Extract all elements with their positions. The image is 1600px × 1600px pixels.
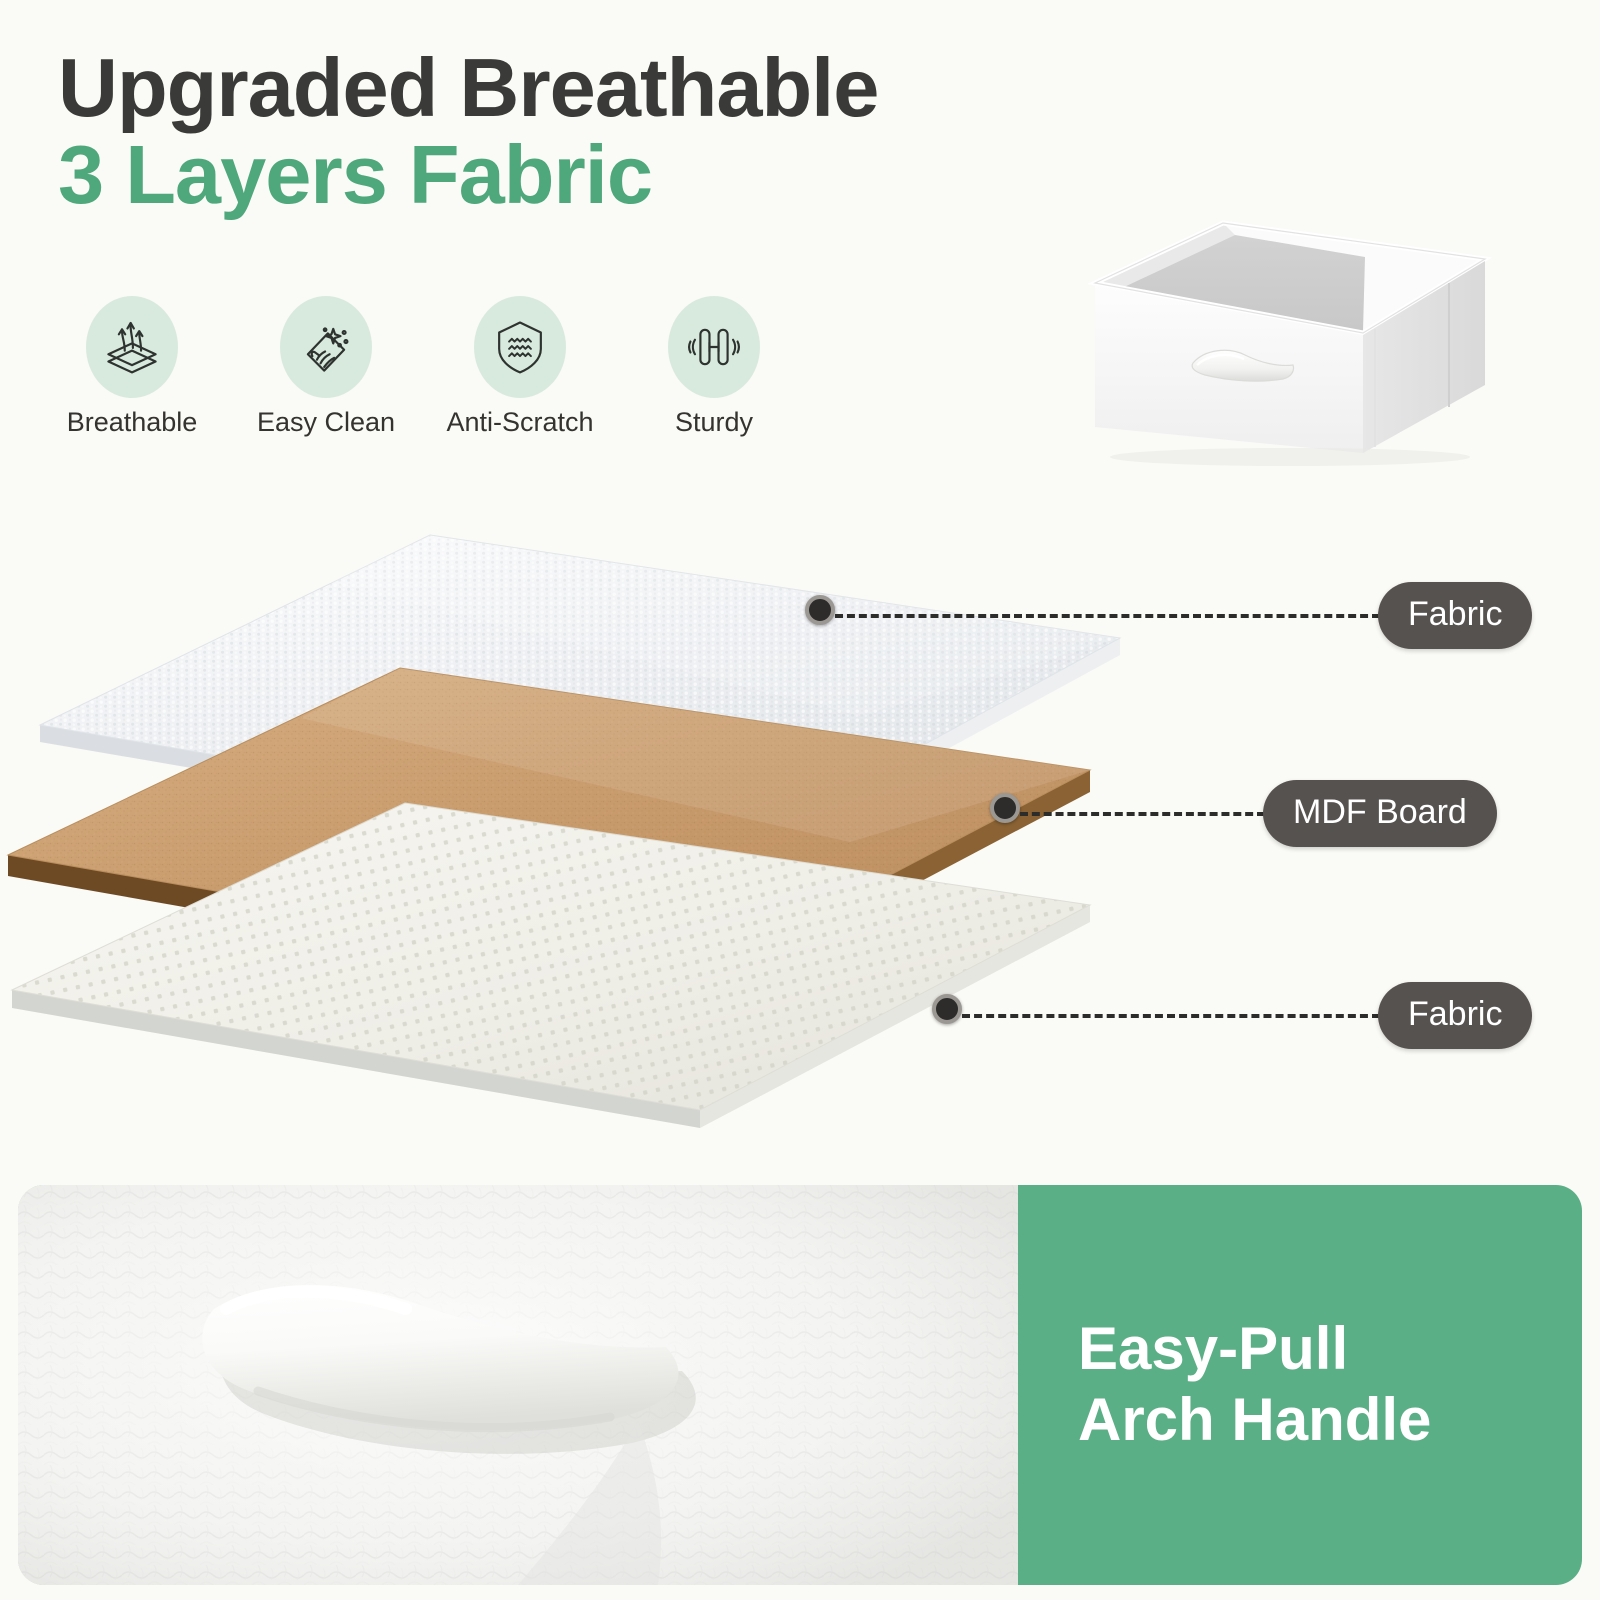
feature-label: Breathable [67,407,198,438]
callout-dash [835,614,1380,618]
callout-fabric-top: Fabric [835,582,1532,649]
callout-mdf-board: MDF Board [1020,780,1497,847]
callout-label: Fabric [1378,582,1532,649]
shield-zigzag-icon [474,296,566,398]
callout-fabric-bottom: Fabric [962,982,1532,1049]
feature-label: Sturdy [675,407,753,438]
callout-dash [1020,812,1265,816]
callout-label: MDF Board [1263,780,1497,847]
callout-dot-fabric-top [805,595,835,625]
handle-caption: Easy-Pull Arch Handle [1018,1185,1582,1585]
handle-caption-line-1: Easy-Pull [1078,1314,1582,1385]
layers-airflow-icon [86,296,178,398]
headline-line-1: Upgraded Breathable [58,46,878,129]
bottom-feature-panel: Easy-Pull Arch Handle [18,1185,1582,1585]
dumbbell-icon [668,296,760,398]
callout-dot-mdf-board [990,793,1020,823]
handle-closeup-photo [18,1185,1018,1585]
feature-label: Anti-Scratch [446,407,593,438]
feature-list: Breathable Easy Clean [52,296,794,438]
feature-item-breathable: Breathable [52,296,212,438]
product-photo-storage-bin [1045,195,1495,495]
callout-dash [962,1014,1380,1018]
page-title: Upgraded Breathable 3 Layers Fabric [58,46,878,222]
feature-label: Easy Clean [257,407,395,438]
feature-item-anti-scratch: Anti-Scratch [440,296,600,438]
hand-wiping-cloth-icon [280,296,372,398]
feature-item-easy-clean: Easy Clean [246,296,406,438]
callout-dot-fabric-bottom [932,994,962,1024]
handle-caption-line-2: Arch Handle [1078,1385,1582,1456]
feature-item-sturdy: Sturdy [634,296,794,438]
headline-line-2: 3 Layers Fabric [58,129,878,222]
callout-label: Fabric [1378,982,1532,1049]
